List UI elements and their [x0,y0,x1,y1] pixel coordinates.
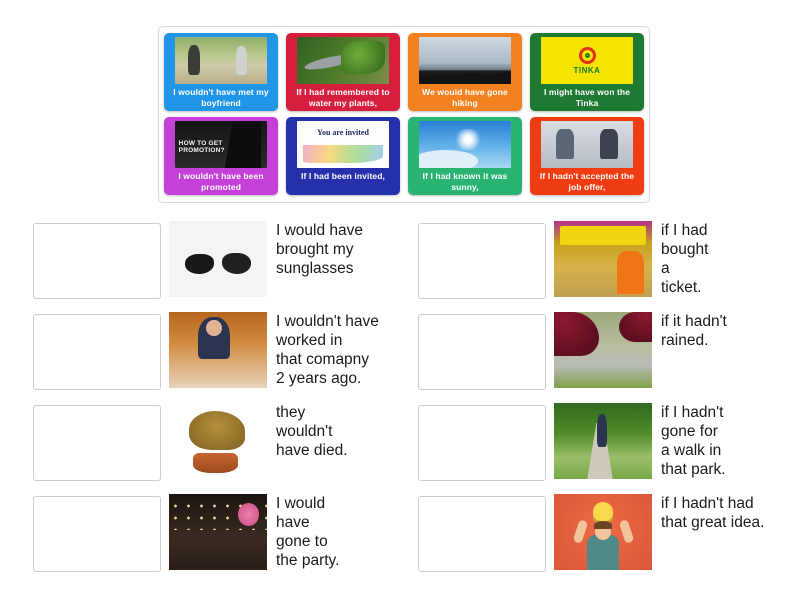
tile-job-offer-image [541,121,633,168]
tile-boyfriend-caption: I wouldn't have met my boyfriend [167,87,275,108]
drop-zone[interactable] [33,314,161,390]
answer-rained-image [554,312,652,388]
draggable-tiles-tray: I wouldn't have met my boyfriendIf I had… [158,26,650,203]
answer-ticket-image [554,221,652,297]
answer-sunglasses-image [169,221,267,297]
answer-row: I wouldn't have worked in that comapny 2… [25,309,405,396]
tile-tinka-caption: I might have won the Tinka [533,87,641,108]
answer-party-text: I would have gone to the party. [276,494,339,570]
answer-plants-died-image [169,403,267,479]
drop-zone[interactable] [33,496,161,572]
tile-hiking-image [419,37,511,84]
answer-park-walk-image [554,403,652,479]
sun-illustration [419,121,511,168]
idea-figure-arm-r-part [618,519,633,543]
tile-promoted-image [175,121,267,168]
drop-zone[interactable] [418,223,546,299]
answer-row: if I had bought a ticket. [410,218,790,305]
answer-rained-text: if it hadn't rained. [661,312,727,350]
rain-illustration [554,312,652,388]
answer-company-text: I wouldn't have worked in that comapny 2… [276,312,379,388]
promo-illustration [175,121,267,168]
plant-illustration [297,37,389,84]
idea-figure-arm-l-part [572,519,587,543]
tray-row: I wouldn't have met my boyfriendIf I had… [164,33,644,111]
tile-sunny-caption: If I had known it was sunny, [411,171,519,192]
answer-great-idea-image [554,494,652,570]
tile-boyfriend[interactable]: I wouldn't have met my boyfriend [164,33,278,111]
tile-job-offer-caption: If I hadn't accepted the job offer, [533,171,641,192]
answer-row: if I hadn't gone for a walk in that park… [410,400,790,487]
drop-zone[interactable] [33,223,161,299]
tile-hiking[interactable]: We would have gone hiking [408,33,522,111]
answer-plants-died-text: they wouldn't have died. [276,403,348,460]
couple-illustration [175,37,267,84]
party-illustration [169,494,267,570]
tile-invited[interactable]: If I had been invited, [286,117,400,195]
tile-promoted[interactable]: I wouldn't have been promoted [164,117,278,195]
idea-illustration [554,494,652,570]
tile-tinka-image: TINKA [541,37,633,84]
tile-water-plants-caption: If I had remembered to water my plants, [289,87,397,108]
tile-tinka[interactable]: TINKAI might have won the Tinka [530,33,644,111]
answer-great-idea-text: if I hadn't had that great idea. [661,494,764,532]
answer-ticket-text: if I had bought a ticket. [661,221,708,297]
tinka-wordmark: TINKA [574,66,601,75]
tile-water-plants[interactable]: If I had remembered to water my plants, [286,33,400,111]
answer-row: if it hadn't rained. [410,309,790,396]
hike-illustration [419,37,511,84]
tray-row: I wouldn't have been promotedIf I had be… [164,117,644,195]
answer-row: they wouldn't have died. [25,400,405,487]
shop-illustration [554,221,652,297]
idea-figure-hair-part [594,521,612,529]
tile-invited-image [297,121,389,168]
office-illustration [169,312,267,388]
job-illustration [541,121,633,168]
invite-illustration [297,121,389,168]
tile-invited-caption: If I had been invited, [289,171,397,182]
answer-sunglasses-text: I would have brought my sunglasses [276,221,363,278]
tile-promoted-caption: I wouldn't have been promoted [167,171,275,192]
answer-column-right: if I had bought a ticket.if it hadn't ra… [410,218,790,582]
tinka-target-icon [579,47,596,64]
drop-zone[interactable] [418,405,546,481]
answer-row: if I hadn't had that great idea. [410,491,790,578]
drop-zone[interactable] [418,496,546,572]
answer-company-image [169,312,267,388]
tile-hiking-caption: We would have gone hiking [411,87,519,108]
tile-sunny[interactable]: If I had known it was sunny, [408,117,522,195]
answer-park-walk-text: if I hadn't gone for a walk in that park… [661,403,726,479]
tinka-illustration: TINKA [541,37,633,84]
dead-illustration [169,403,267,479]
tile-water-plants-image [297,37,389,84]
answer-row: I would have gone to the party. [25,491,405,578]
tile-job-offer[interactable]: If I hadn't accepted the job offer, [530,117,644,195]
drop-zone[interactable] [418,314,546,390]
answer-column-left: I would have brought my sunglassesI woul… [25,218,405,582]
glasses-illustration [169,221,267,297]
park-illustration [554,403,652,479]
answer-party-image [169,494,267,570]
tile-sunny-image [419,121,511,168]
answer-row: I would have brought my sunglasses [25,218,405,305]
tile-boyfriend-image [175,37,267,84]
drop-zone[interactable] [33,405,161,481]
